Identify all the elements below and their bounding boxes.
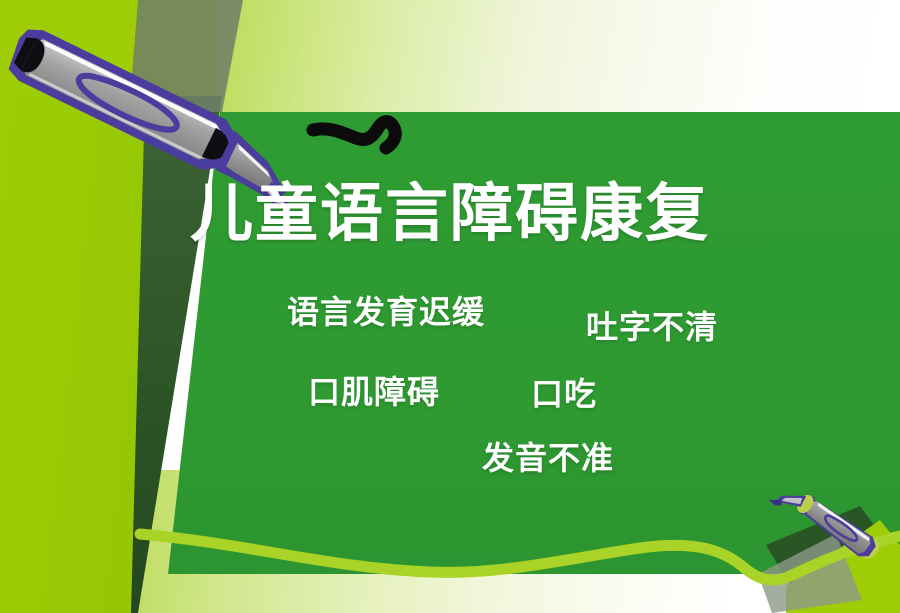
poster-artwork (0, 0, 900, 613)
poster-canvas: 儿童语言障碍康复 语言发育迟缓 吐字不清 口肌障碍 口吃 发音不准 (0, 0, 900, 613)
left-bright-wedge (0, 96, 150, 613)
